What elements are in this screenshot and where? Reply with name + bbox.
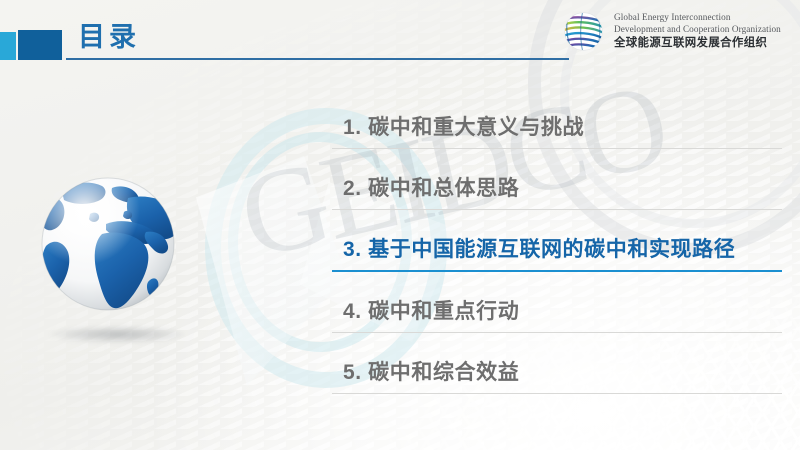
presentation-slide: GEIDCO 目录 [0, 0, 800, 450]
table-of-contents: 1. 碳中和重大意义与挑战 2. 碳中和总体思路 3. 基于中国能源互联网的碳中… [332, 88, 782, 394]
toc-item-4[interactable]: 4. 碳中和重点行动 [332, 272, 782, 333]
organization-logo-text: Global Energy Interconnection Developmen… [614, 12, 781, 51]
title-underline-rule [66, 58, 569, 60]
toc-item-5-label: 5. 碳中和综合效益 [343, 356, 519, 386]
logo-chinese-name: 全球能源互联网发展合作组织 [614, 36, 781, 51]
organization-logo: Global Energy Interconnection Developmen… [560, 8, 781, 55]
toc-item-1[interactable]: 1. 碳中和重大意义与挑战 [332, 88, 782, 149]
toc-item-4-label: 4. 碳中和重点行动 [343, 295, 519, 325]
background-shard-decoration-1 [196, 156, 346, 386]
toc-item-5[interactable]: 5. 碳中和综合效益 [332, 333, 782, 394]
toc-item-1-label: 1. 碳中和重大意义与挑战 [343, 111, 584, 141]
logo-english-line-2: Development and Cooperation Organization [614, 24, 781, 36]
geidco-globe-logo-icon [560, 8, 607, 55]
header-accent-block-dark [18, 30, 62, 60]
toc-item-3[interactable]: 3. 基于中国能源互联网的碳中和实现路径 [332, 210, 782, 272]
earth-globe-illustration [28, 168, 208, 368]
logo-english-line-1: Global Energy Interconnection [614, 12, 781, 24]
globe-icon [28, 168, 208, 348]
header-accent-block-light [0, 32, 16, 60]
toc-item-3-label: 3. 基于中国能源互联网的碳中和实现路径 [343, 233, 735, 263]
globe-drop-shadow [50, 326, 186, 343]
page-title: 目录 [78, 20, 140, 54]
toc-item-2-label: 2. 碳中和总体思路 [343, 172, 519, 202]
toc-item-2[interactable]: 2. 碳中和总体思路 [332, 149, 782, 210]
